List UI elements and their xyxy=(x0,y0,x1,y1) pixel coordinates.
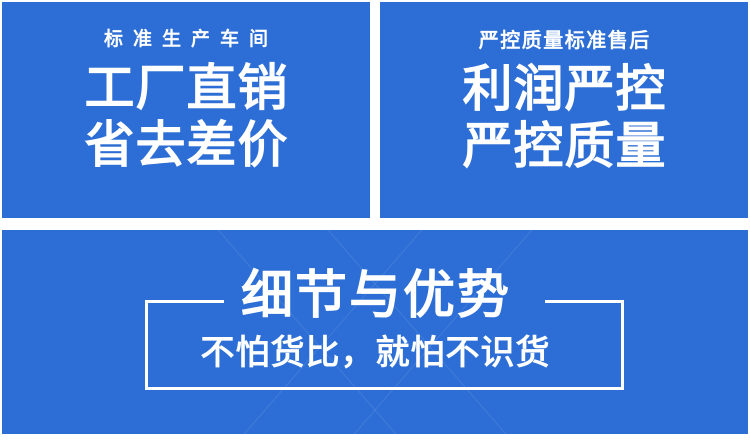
quality-eyebrow-text: 严控质量标准售后 xyxy=(477,30,651,50)
details-title: 细节与优势 xyxy=(239,270,511,322)
panel-factory-content: 标准生产车间 工厂直销 省去差价 xyxy=(2,2,370,218)
panel-quality-content: 严控质量标准售后 利润严控 严控质量 xyxy=(380,2,748,218)
quality-headline-line-1: 利润严控 xyxy=(462,64,667,115)
factory-headline-line-2: 省去差价 xyxy=(84,120,289,171)
panel-details-advantages: 细节与优势 不怕货比，就怕不识货 xyxy=(2,230,748,434)
panel-factory-direct-sales: 标准生产车间 工厂直销 省去差价 xyxy=(2,2,370,218)
factory-headline-line-1: 工厂直销 xyxy=(84,63,289,114)
factory-eyebrow-text: 标准生产车间 xyxy=(94,30,278,49)
panel-quality-control: 严控质量标准售后 利润严控 严控质量 xyxy=(380,2,748,218)
panel-details-content: 细节与优势 不怕货比，就怕不识货 xyxy=(2,230,748,434)
details-subtitle: 不怕货比，就怕不识货 xyxy=(200,336,551,370)
quality-headline-line-2: 严控质量 xyxy=(462,121,667,172)
promo-banner: 标准生产车间 工厂直销 省去差价 严控质量标准售后 利润严控 严控质量 细节 xyxy=(0,0,750,440)
